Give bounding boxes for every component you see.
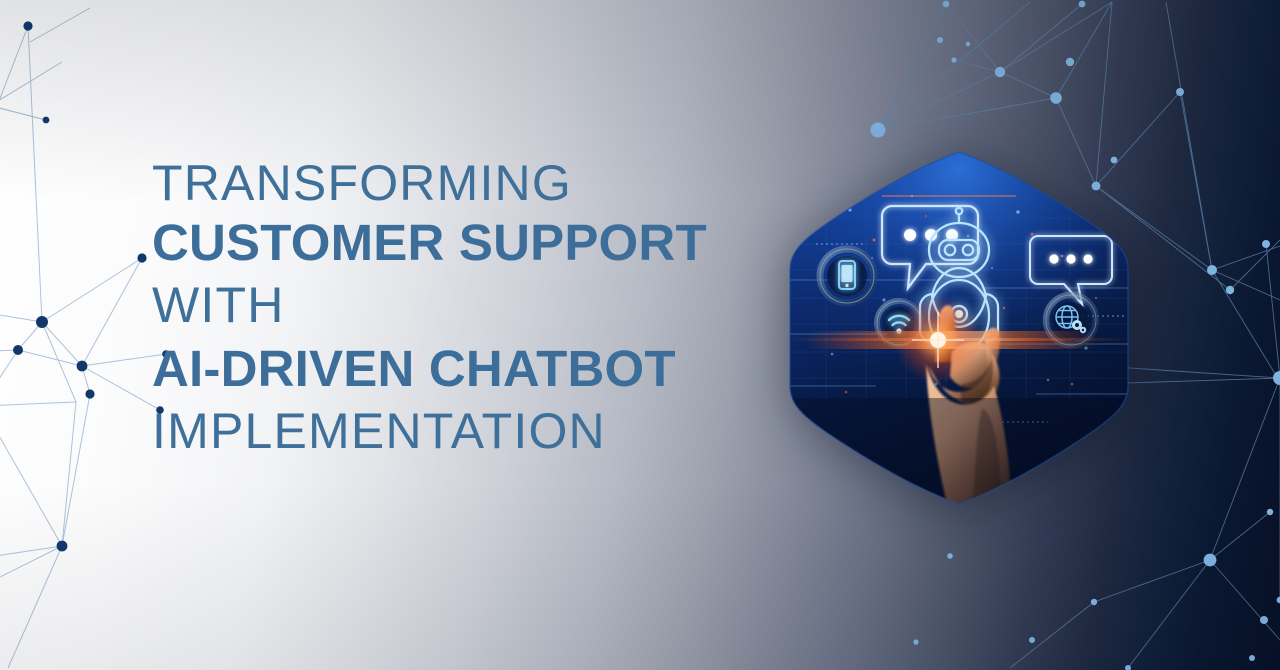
hex-bottom-shade bbox=[786, 398, 1132, 508]
ai-chatbot-hexagon-illustration bbox=[786, 148, 1132, 508]
headline-line-1: TRANSFORMING bbox=[152, 158, 772, 208]
headline-line-3: WITH bbox=[152, 280, 772, 330]
hexagon-artwork-svg bbox=[786, 148, 1132, 508]
hero-banner: TRANSFORMING CUSTOMER SUPPORT WITH AI-DR… bbox=[0, 0, 1280, 670]
smartphone-icon bbox=[820, 249, 874, 303]
page-title: TRANSFORMING CUSTOMER SUPPORT WITH AI-DR… bbox=[152, 158, 772, 456]
headline-line-5: IMPLEMENTATION bbox=[152, 406, 772, 456]
headline-line-2: CUSTOMER SUPPORT bbox=[152, 217, 772, 268]
headline-line-4: AI-DRIVEN CHATBOT bbox=[152, 343, 772, 394]
